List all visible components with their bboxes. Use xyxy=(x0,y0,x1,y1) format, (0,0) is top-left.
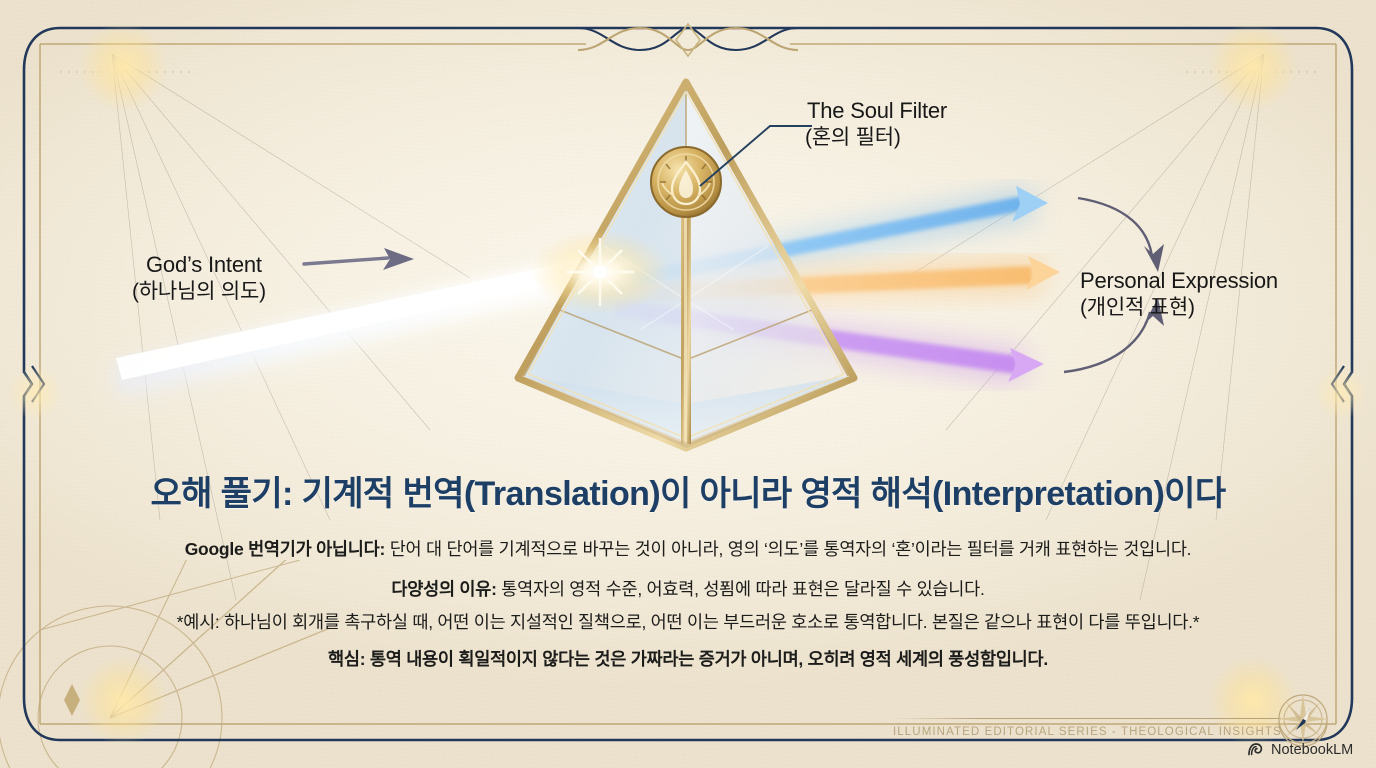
body-line-1: Google 번역기가 아닙니다: 단어 대 단어를 기계적으로 바꾸는 것이 … xyxy=(0,538,1376,561)
body-line-4: 핵심: 통역 내용이 획일적이지 않다는 것은 가짜라는 증거가 아니며, 오히… xyxy=(0,648,1376,671)
label-personal-expression-en: Personal Expression xyxy=(1080,268,1278,295)
label-soul-filter-en: The Soul Filter xyxy=(805,98,947,125)
body-line-2-label: 다양성의 이유: xyxy=(391,579,496,599)
notebooklm-logo-icon xyxy=(1246,740,1265,759)
body-line-3: *예시: 하나님이 회개를 촉구하실 때, 어떤 이는 지설적인 질책으로, 어… xyxy=(0,611,1376,634)
label-gods-intent-ko: (하나님의 의도) xyxy=(132,279,266,305)
label-soul-filter-ko: (혼의 필터) xyxy=(805,125,947,151)
notebooklm-brand: NotebookLM xyxy=(1246,740,1353,759)
body-line-4-text: 통역 내용이 획일적이지 않다는 것은 가짜라는 증거가 아니며, 오히려 영적… xyxy=(365,649,1048,669)
dispersion-hotspot xyxy=(530,230,670,314)
flame-emblem-medallion xyxy=(651,147,721,217)
body-line-1-text: 단어 대 단어를 기계적으로 바꾸는 것이 아니라, 영의 ‘의도’를 통역자의… xyxy=(385,539,1191,559)
series-caption: ILLUMINATED EDITORIAL SERIES - THEOLOGIC… xyxy=(893,726,1281,738)
body-line-1-label: Google 번역기가 아닙니다: xyxy=(185,539,385,559)
prism-illustration: The Soul Filter (혼의 필터) God’s Intent (하나… xyxy=(0,0,1376,470)
label-personal-expression-ko: (개인적 표현) xyxy=(1080,295,1278,321)
notebooklm-label: NotebookLM xyxy=(1271,742,1353,758)
label-gods-intent-en: God’s Intent xyxy=(132,252,266,279)
poster-canvas: The Soul Filter (혼의 필터) God’s Intent (하나… xyxy=(0,0,1376,768)
headline: 오해 풀기: 기계적 번역(Translation)이 아니라 영적 해석(In… xyxy=(0,466,1376,515)
body-line-4-label: 핵심: xyxy=(328,649,365,669)
body-line-2-text: 통역자의 영적 수준, 어효력, 성푐에 따라 표현은 달라질 수 있습니다. xyxy=(497,579,985,599)
input-direction-arrow xyxy=(304,248,414,270)
label-gods-intent: God’s Intent (하나님의 의도) xyxy=(132,252,266,305)
body-line-2: 다양성의 이유: 통역자의 영적 수준, 어효력, 성푐에 따라 표현은 달라질… xyxy=(0,578,1376,601)
label-soul-filter: The Soul Filter (혼의 필터) xyxy=(805,98,947,151)
label-personal-expression: Personal Expression (개인적 표현) xyxy=(1080,268,1278,321)
footer-rule xyxy=(893,718,1281,719)
